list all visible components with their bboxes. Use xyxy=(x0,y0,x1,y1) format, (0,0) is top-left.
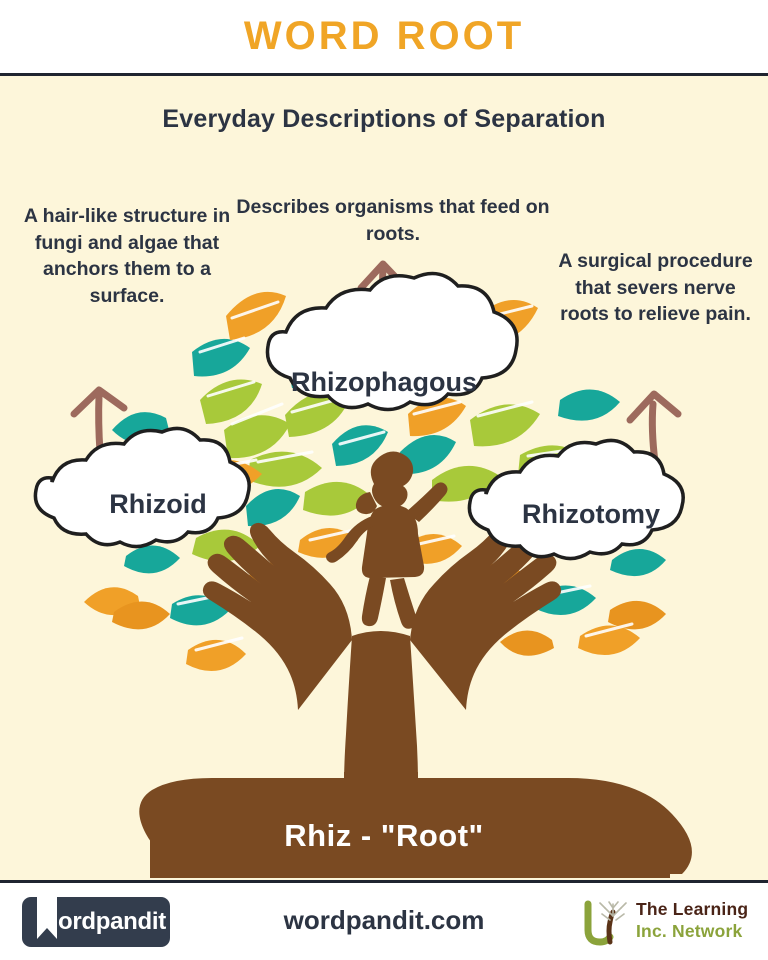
learning-network-line1: The Learning xyxy=(636,899,748,920)
root-label: Rhiz - "Root" xyxy=(0,818,768,854)
learning-network-line2: Inc. Network xyxy=(636,921,742,942)
poster-subtitle: Everyday Descriptions of Separation xyxy=(0,105,768,134)
tree-logo-icon xyxy=(580,900,632,948)
word-label-rhizotomy: Rhizotomy xyxy=(458,499,724,530)
poster-header: WORD ROOT xyxy=(0,0,768,76)
word-cloud-rhizoid[interactable]: Rhizoid xyxy=(24,437,292,560)
poster-footer: ordpandit wordpandit.com The Learning In… xyxy=(0,880,768,960)
learning-network-logo[interactable]: The Learning Inc. Network xyxy=(580,897,750,949)
infographic-poster: WORD ROOT Everyday Descriptions of Separ… xyxy=(0,0,768,960)
girl-silhouette-icon xyxy=(326,451,448,628)
description-right: A surgical procedure that severs nerve r… xyxy=(552,248,759,328)
word-cloud-rhizotomy[interactable]: Rhizotomy xyxy=(458,450,724,572)
page-title: WORD ROOT xyxy=(244,14,524,59)
word-cloud-rhizophagous[interactable]: Rhizophagous xyxy=(224,310,544,447)
description-center: Describes organisms that feed on roots. xyxy=(233,194,553,247)
description-left: A hair-like structure in fungi and algae… xyxy=(12,203,242,309)
word-label-rhizophagous: Rhizophagous xyxy=(224,367,544,398)
word-label-rhizoid: Rhizoid xyxy=(24,489,292,520)
